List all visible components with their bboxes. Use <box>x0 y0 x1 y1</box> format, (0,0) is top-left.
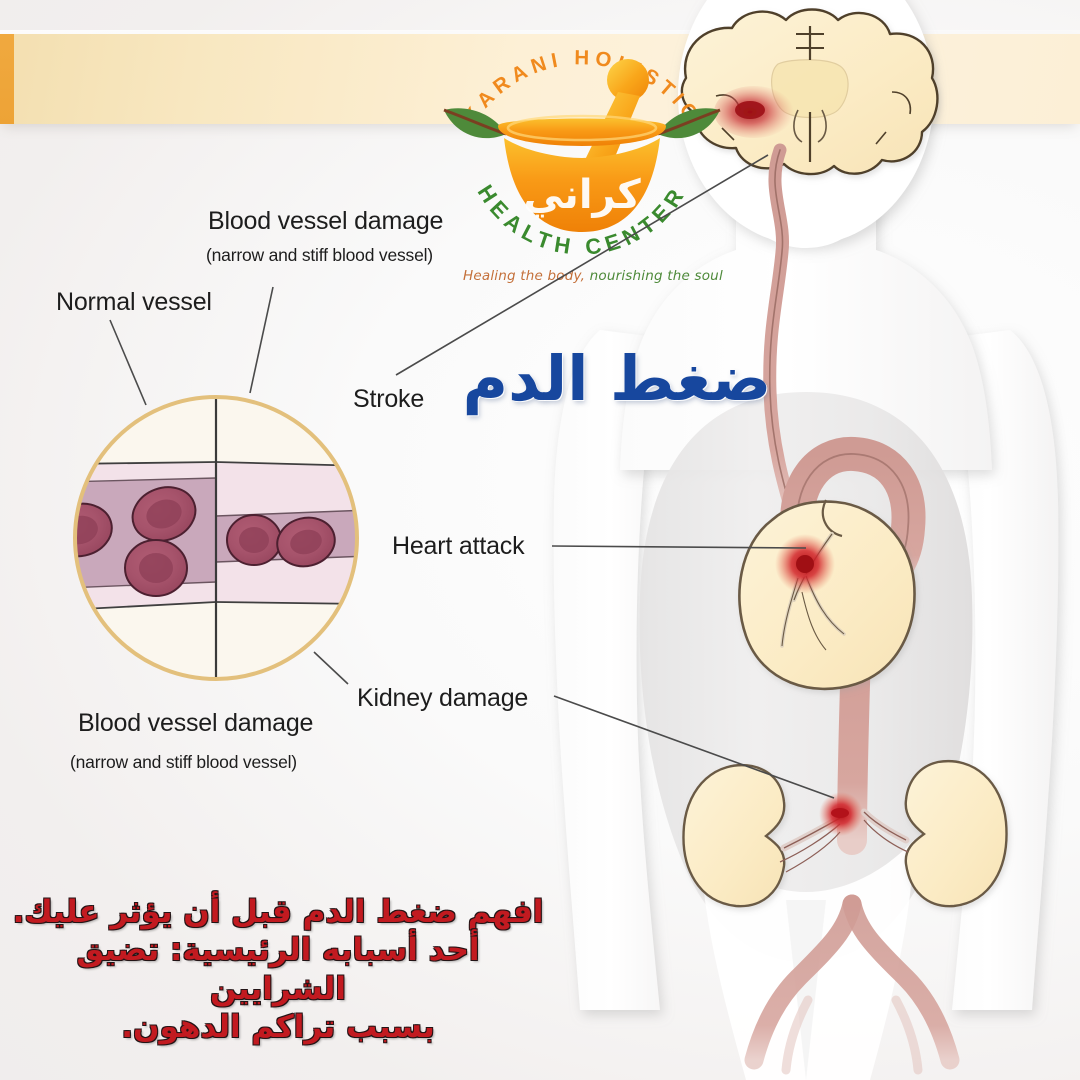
leaf-icon-left <box>444 108 506 138</box>
logo-center-script: كراني <box>523 172 641 218</box>
label-stroke: Stroke <box>353 385 424 414</box>
arabic-caption-line-2: أحد أسبابه الرئيسية: تضيق الشرايين <box>8 931 548 1008</box>
label-blood-vessel-damage-bottom-sub: (narrow and stiff blood vessel) <box>70 752 297 773</box>
blood-vessel-comparison-diagram <box>68 390 364 686</box>
banner-accent-strip <box>0 34 14 124</box>
leaf-icon-right <box>658 108 720 138</box>
blood-cell-normal-3 <box>125 540 187 596</box>
arabic-headline: ضغط الدم <box>452 348 782 410</box>
label-normal-vessel: Normal vessel <box>56 288 212 317</box>
label-blood-vessel-damage-top: Blood vessel damage <box>208 207 443 236</box>
label-blood-vessel-damage-top-sub: (narrow and stiff blood vessel) <box>206 245 433 266</box>
label-kidney-damage: Kidney damage <box>357 684 528 713</box>
blood-cell-narrow-1 <box>227 515 281 565</box>
logo-tagline: Healing the body, nourishing the soul <box>463 268 713 284</box>
arabic-caption: افهم ضغط الدم قبل أن يؤثر عليك. أحد أسبا… <box>8 893 548 1047</box>
tagline-part-1: Healing the body, <box>463 268 585 284</box>
label-heart-attack: Heart attack <box>392 532 524 561</box>
infographic-canvas: KARANI HOLISTIC HEALTH CENTER <box>0 0 1080 1080</box>
arabic-caption-line-1: افهم ضغط الدم قبل أن يؤثر عليك. <box>8 893 548 931</box>
arabic-caption-line-3: بسبب تراكم الدهون. <box>8 1008 548 1046</box>
label-blood-vessel-damage-bottom: Blood vessel damage <box>78 709 313 738</box>
karani-holistic-logo: KARANI HOLISTIC HEALTH CENTER <box>432 18 732 278</box>
tagline-part-2: nourishing the soul <box>585 268 723 284</box>
